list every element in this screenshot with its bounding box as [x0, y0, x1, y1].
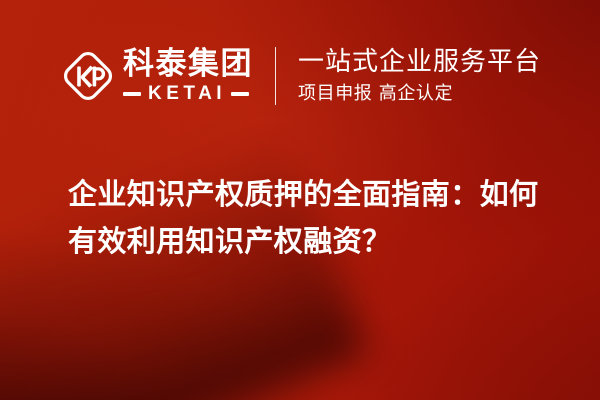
tagline-secondary: 项目申报 高企认定	[298, 84, 541, 105]
tagline-primary: 一站式企业服务平台	[298, 48, 541, 77]
header-divider	[275, 47, 276, 105]
tagline-block: 一站式企业服务平台 项目申报 高企认定	[298, 48, 541, 105]
logo-company-name-cn: 科泰集团	[123, 49, 253, 81]
brand-header: 科泰集团 KETAI 一站式企业服务平台 项目申报 高企认定	[62, 40, 541, 112]
logo-company-name-en: KETAI	[141, 84, 231, 103]
promo-banner: 科泰集团 KETAI 一站式企业服务平台 项目申报 高企认定 企业知识产权质押的…	[0, 0, 600, 400]
page-title: 企业知识产权质押的全面指南：如何有效利用知识产权融资？	[68, 171, 560, 265]
logo-dash-right-icon	[231, 92, 249, 96]
logo-wordmark: 科泰集团 KETAI	[123, 49, 253, 104]
banner-content: 科泰集团 KETAI 一站式企业服务平台 项目申报 高企认定 企业知识产权质押的…	[0, 0, 600, 400]
ketai-diamond-kp-monogram-icon	[62, 50, 114, 102]
logo-lockup[interactable]: 科泰集团 KETAI	[62, 40, 253, 112]
logo-english-row: KETAI	[123, 84, 253, 103]
logo-dash-left-icon	[123, 92, 141, 96]
